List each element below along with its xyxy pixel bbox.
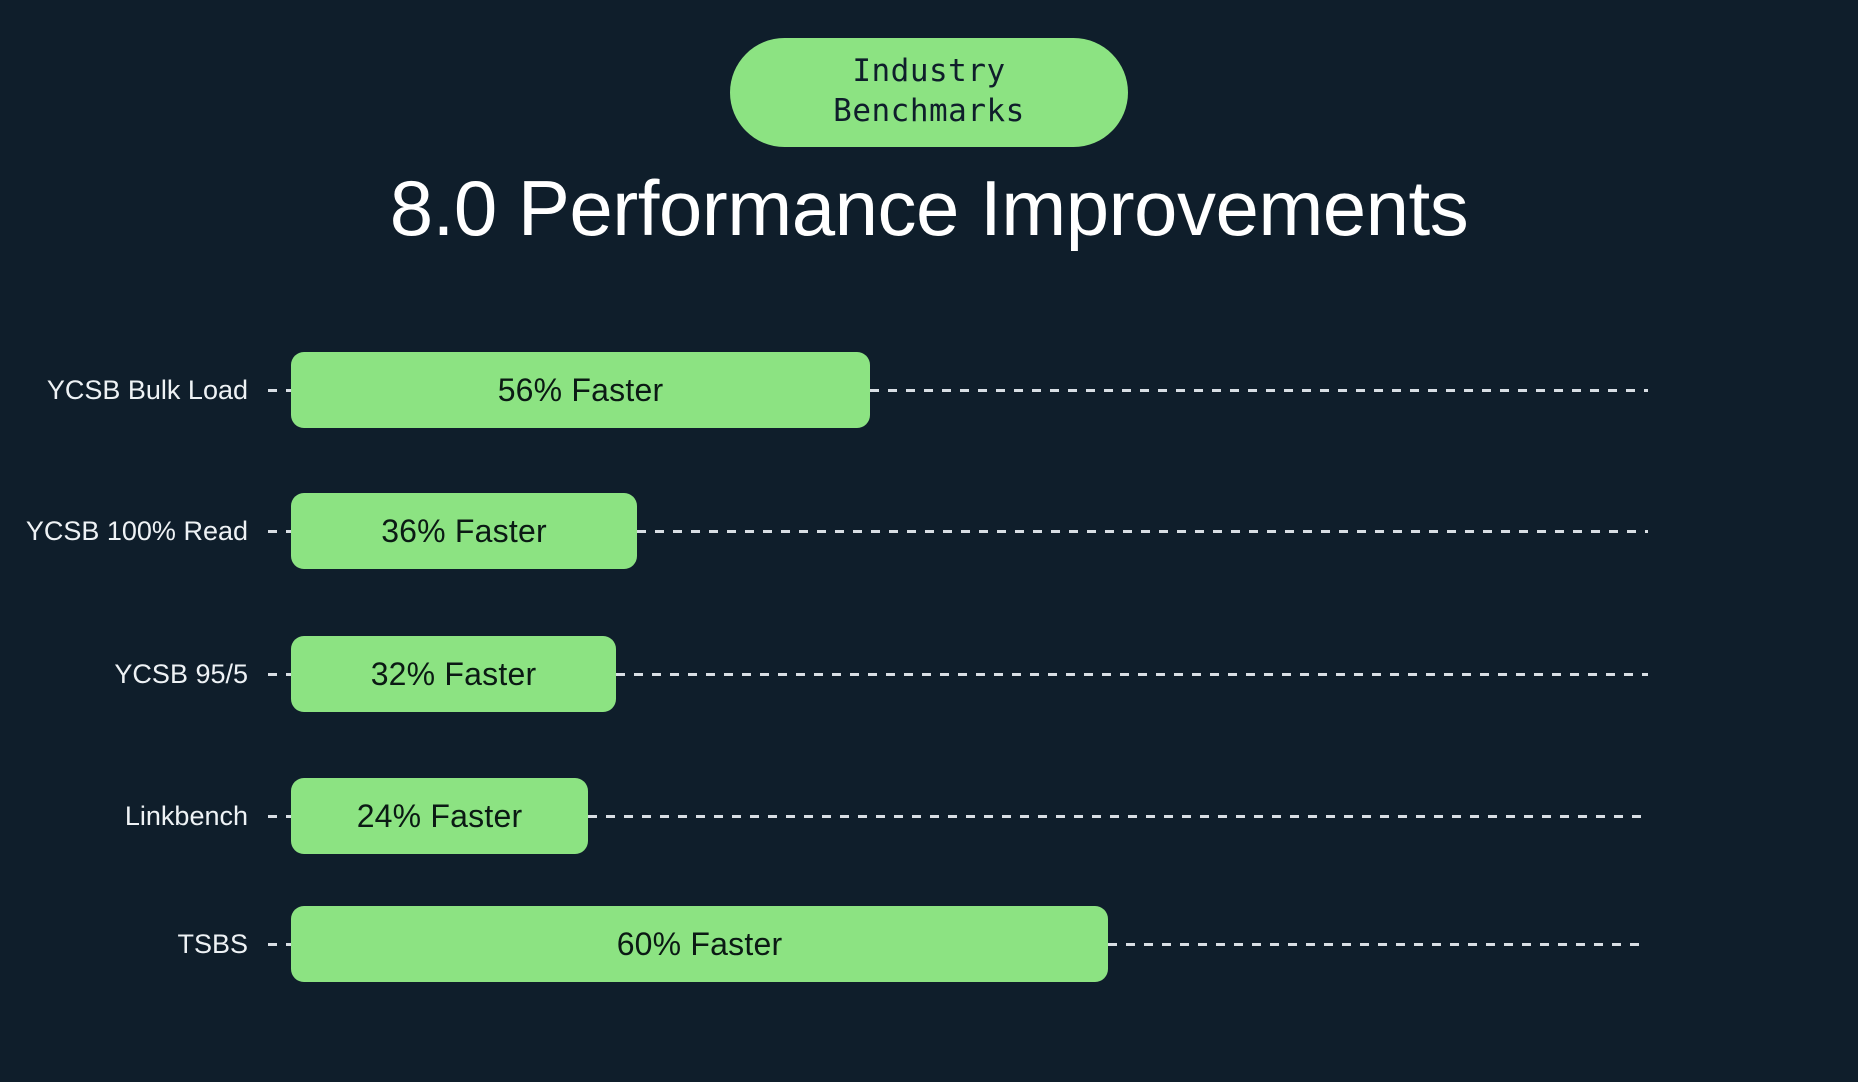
row-trailing-dashed-line <box>637 530 1648 533</box>
benchmark-bar-value: 24% Faster <box>357 798 523 835</box>
row-connector-dash <box>268 673 292 676</box>
badge-line-2: Benchmarks <box>790 92 1068 132</box>
benchmark-row-label: YCSB Bulk Load <box>0 377 248 404</box>
benchmark-row-label: YCSB 100% Read <box>0 518 248 545</box>
benchmark-row: YCSB 100% Read36% Faster <box>0 493 1858 613</box>
row-trailing-dashed-line <box>870 389 1648 392</box>
benchmark-bar: 36% Faster <box>291 493 637 569</box>
benchmark-row-label: YCSB 95/5 <box>0 661 248 688</box>
badge-line-1: Industry <box>790 52 1068 92</box>
benchmark-bar: 32% Faster <box>291 636 616 712</box>
benchmark-row: YCSB 95/532% Faster <box>0 636 1858 756</box>
benchmark-bar-value: 36% Faster <box>381 513 547 550</box>
industry-benchmarks-badge: Industry Benchmarks <box>730 38 1128 147</box>
row-connector-dash <box>268 815 292 818</box>
row-connector-dash <box>268 943 292 946</box>
benchmark-row: TSBS60% Faster <box>0 906 1858 1026</box>
badge-container: Industry Benchmarks <box>0 38 1858 147</box>
benchmark-row: Linkbench24% Faster <box>0 778 1858 898</box>
row-trailing-dashed-line <box>1108 943 1648 946</box>
benchmark-row-label: TSBS <box>0 931 248 958</box>
benchmark-bar-value: 56% Faster <box>498 372 664 409</box>
row-trailing-dashed-line <box>588 815 1648 818</box>
benchmark-bar-value: 32% Faster <box>371 656 537 693</box>
benchmark-bar: 56% Faster <box>291 352 870 428</box>
row-connector-dash <box>268 530 292 533</box>
benchmark-bar: 24% Faster <box>291 778 588 854</box>
benchmark-bar-chart: YCSB Bulk Load56% FasterYCSB 100% Read36… <box>0 352 1858 1052</box>
row-connector-dash <box>268 389 292 392</box>
page-title: 8.0 Performance Improvements <box>0 168 1858 250</box>
row-trailing-dashed-line <box>616 673 1648 676</box>
benchmark-bar: 60% Faster <box>291 906 1108 982</box>
benchmark-row-label: Linkbench <box>0 803 248 830</box>
benchmark-bar-value: 60% Faster <box>617 926 783 963</box>
benchmark-row: YCSB Bulk Load56% Faster <box>0 352 1858 472</box>
